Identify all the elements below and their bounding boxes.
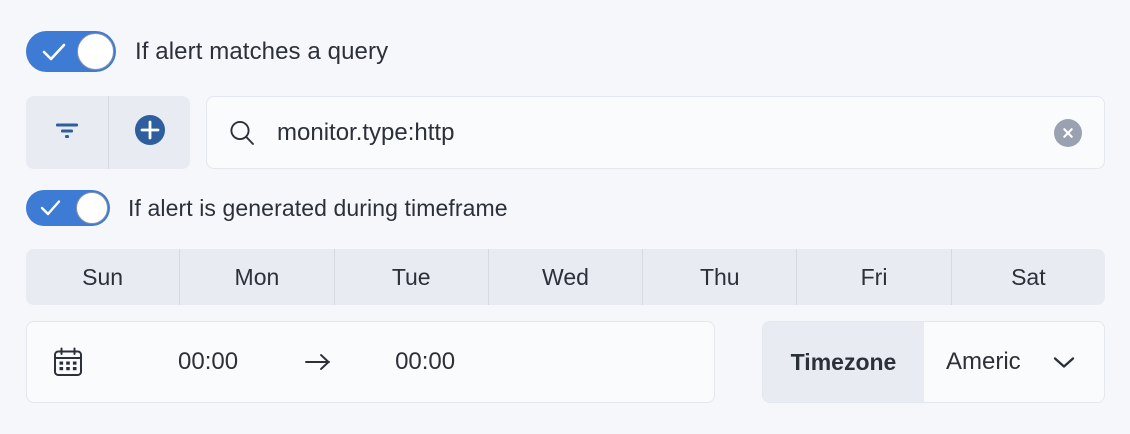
day-button-mon[interactable]: Mon <box>179 249 333 305</box>
timeframe-toggle-row: If alert is generated during timeframe <box>26 190 508 226</box>
timezone-group: Timezone Americ <box>762 321 1105 403</box>
query-button-group <box>26 96 190 169</box>
day-of-week-selector: Sun Mon Tue Wed Thu Fri Sat <box>26 249 1105 305</box>
close-circle-icon[interactable] <box>1054 119 1082 147</box>
plus-circle-icon <box>134 114 166 151</box>
day-button-sun[interactable]: Sun <box>26 249 179 305</box>
start-time-input[interactable]: 00:00 <box>178 348 238 376</box>
timezone-select[interactable]: Americ <box>924 322 1104 402</box>
query-toggle-label: If alert matches a query <box>135 38 388 66</box>
end-time-input[interactable]: 00:00 <box>395 348 455 376</box>
calendar-icon[interactable] <box>51 345 85 379</box>
add-query-button[interactable] <box>108 96 190 169</box>
search-input[interactable]: monitor.type:http <box>277 119 1054 147</box>
check-icon <box>40 199 61 222</box>
filter-icon <box>54 120 80 145</box>
day-button-sat[interactable]: Sat <box>951 249 1105 305</box>
timezone-label: Timezone <box>763 322 924 402</box>
timezone-value: Americ <box>946 348 1041 376</box>
day-button-fri[interactable]: Fri <box>796 249 950 305</box>
check-icon <box>42 42 66 67</box>
day-button-thu[interactable]: Thu <box>642 249 796 305</box>
toggle-if-alert-matches-query[interactable] <box>26 31 116 72</box>
toggle-knob <box>76 192 108 224</box>
toggle-knob <box>77 33 114 70</box>
query-toggle-row: If alert matches a query <box>26 31 388 72</box>
day-button-wed[interactable]: Wed <box>488 249 642 305</box>
query-search-field[interactable]: monitor.type:http <box>206 96 1105 169</box>
search-icon <box>227 118 257 148</box>
day-button-tue[interactable]: Tue <box>334 249 488 305</box>
filter-button[interactable] <box>26 96 108 169</box>
time-range-field: 00:00 00:00 <box>26 321 715 403</box>
arrow-right-icon <box>303 351 333 373</box>
toggle-if-alert-generated-during-timeframe[interactable] <box>26 190 110 226</box>
chevron-down-icon <box>1049 352 1079 372</box>
alert-conditions-panel: If alert matches a query <box>0 0 1130 434</box>
timeframe-toggle-label: If alert is generated during timeframe <box>128 195 508 222</box>
